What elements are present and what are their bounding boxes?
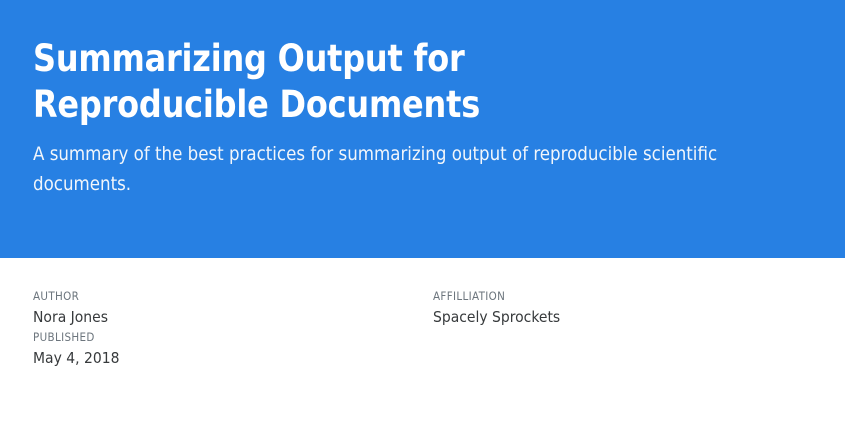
metadata-column-author: AUTHOR Nora Jones PUBLISHED May 4, 2018: [33, 288, 433, 370]
title-banner: Summarizing Output for Reproducible Docu…: [0, 0, 845, 258]
page-title: Summarizing Output for Reproducible Docu…: [33, 36, 705, 129]
metadata-field-published: PUBLISHED May 4, 2018: [33, 329, 433, 370]
author-value: Nora Jones: [33, 306, 433, 329]
affiliation-label: AFFILLIATION: [433, 288, 812, 305]
author-label: AUTHOR: [33, 288, 433, 305]
metadata-field-author: AUTHOR Nora Jones: [33, 288, 433, 329]
affiliation-value: Spacely Sprockets: [433, 306, 812, 329]
metadata-column-affiliation: AFFILLIATION Spacely Sprockets: [433, 288, 812, 329]
published-label: PUBLISHED: [33, 329, 433, 346]
article-metadata: AUTHOR Nora Jones PUBLISHED May 4, 2018 …: [0, 258, 845, 370]
metadata-field-affiliation: AFFILLIATION Spacely Sprockets: [433, 288, 812, 329]
published-value: May 4, 2018: [33, 347, 433, 370]
page-subtitle: A summary of the best practices for summ…: [33, 139, 793, 201]
